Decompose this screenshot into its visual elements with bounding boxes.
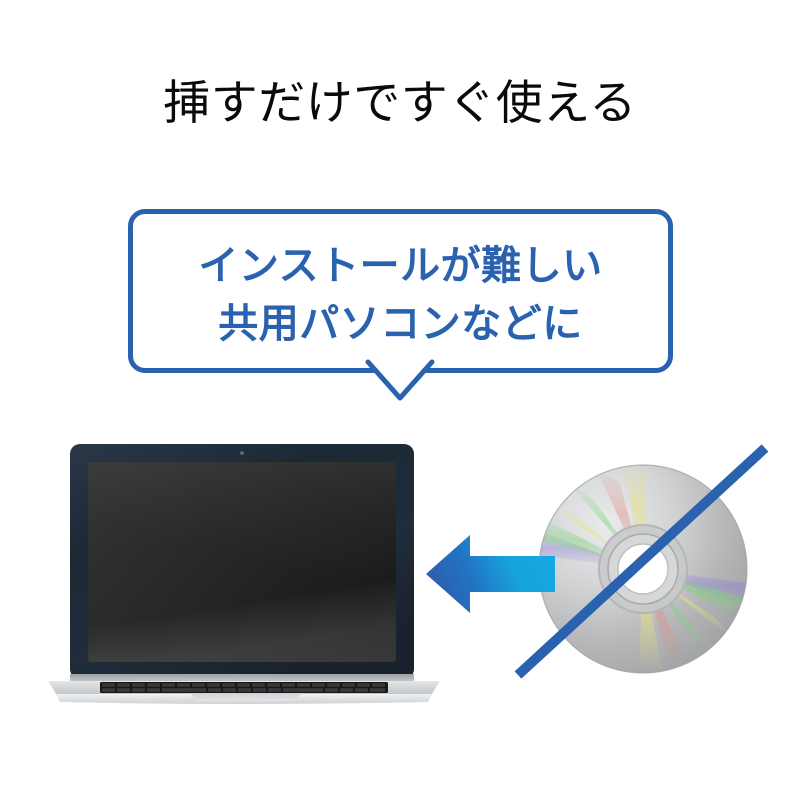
laptop-base [48, 681, 440, 704]
callout-bubble-text: インストールが難しい 共用パソコンなどに [133, 237, 668, 353]
page-title: 挿すだけですぐ使える [0, 78, 800, 131]
laptop-keyboard [100, 682, 388, 693]
laptop-computer-illustration [44, 440, 444, 705]
diagonal-slash-icon [500, 430, 790, 695]
callout-line-2: 共用パソコンなどに [133, 295, 668, 353]
laptop-trackpad [190, 693, 302, 701]
laptop-hinge [70, 674, 414, 682]
promo-graphic: 挿すだけですぐ使える インストールが難しい 共用パソコンなどに [0, 0, 800, 800]
callout-line-1: インストールが難しい [133, 237, 668, 295]
laptop-lid [70, 444, 414, 679]
callout-bubble: インストールが難しい 共用パソコンなどに [128, 209, 673, 373]
webcam-dot [240, 451, 244, 455]
callout-bubble-tail [363, 366, 437, 402]
